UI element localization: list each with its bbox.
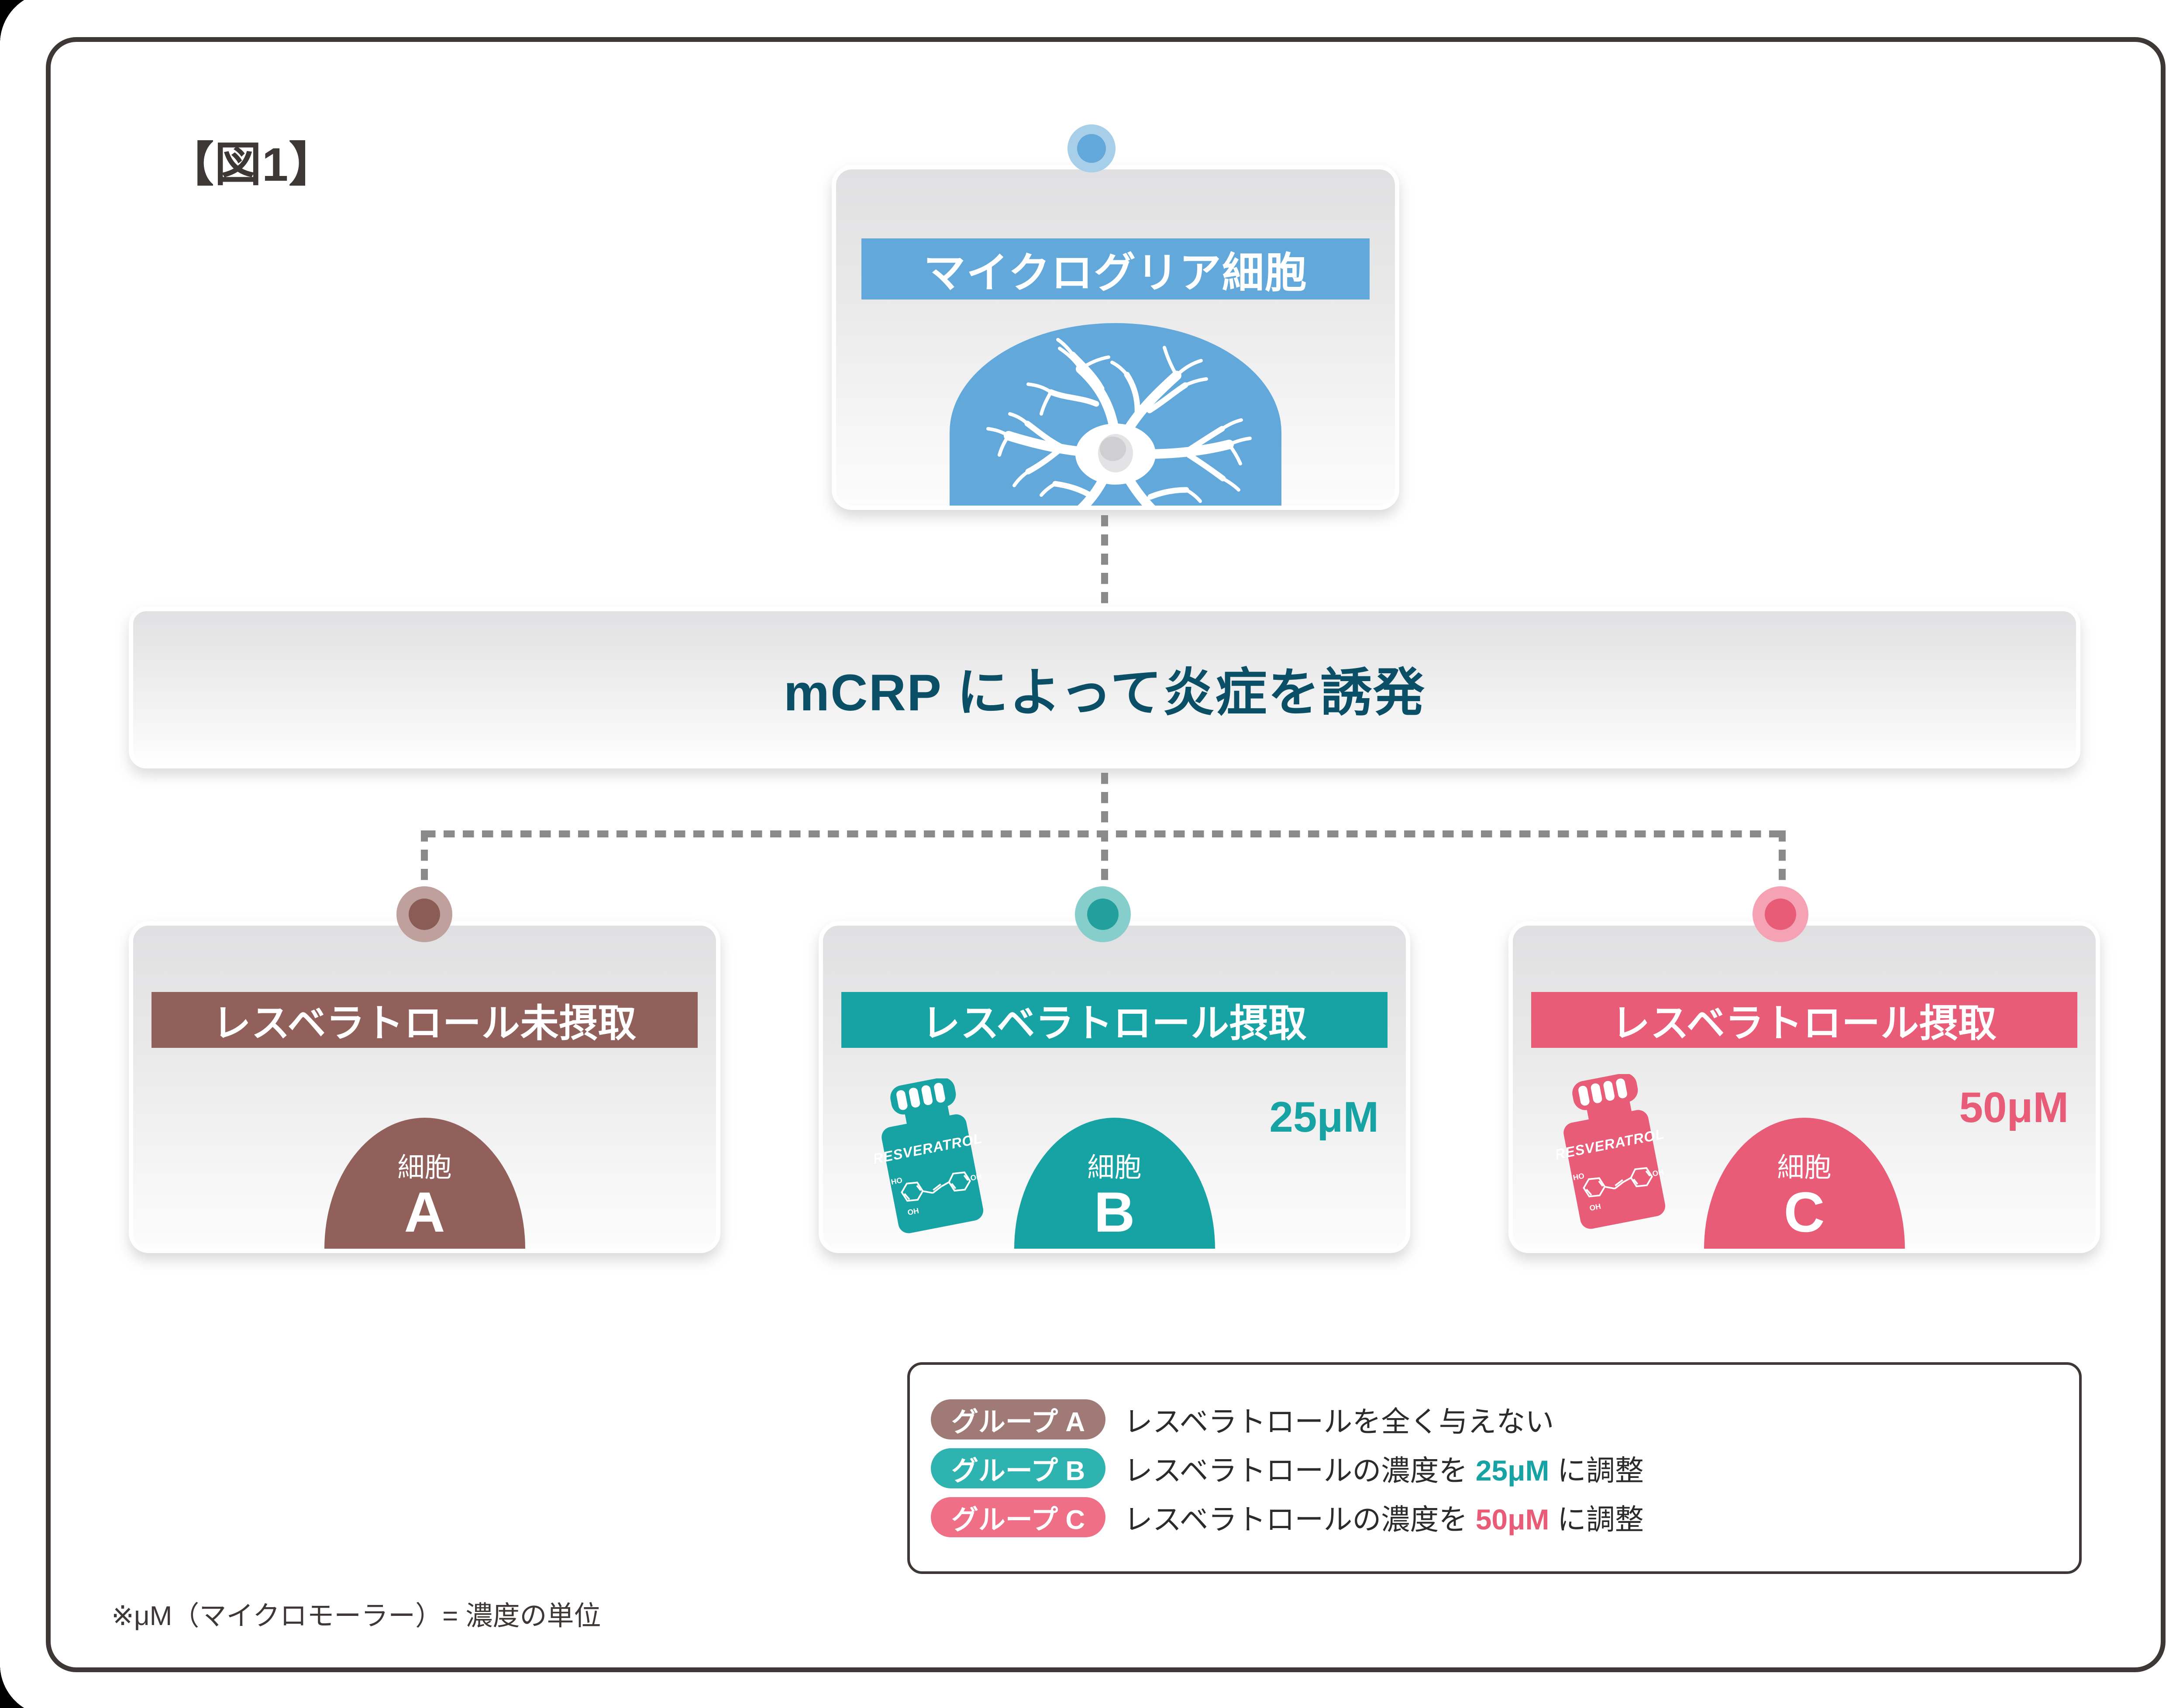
corner-bleed-top-right bbox=[2159, 0, 2183, 44]
cell-caption-a: 細胞 bbox=[397, 1154, 451, 1182]
legend-row: グループ A レスベラトロールを全く与えない bbox=[931, 1398, 2062, 1440]
cell-letter-b: B bbox=[1094, 1182, 1135, 1242]
legend-pill-group-c: グループ C bbox=[931, 1497, 1105, 1537]
figure-title: 【図1】 bbox=[167, 127, 336, 195]
group-b-label: レスベラトロール摂取 bbox=[841, 992, 1388, 1048]
cell-letter-c: C bbox=[1784, 1182, 1825, 1242]
legend-text-group-a: レスベラトロールを全く与えない bbox=[1124, 1398, 1554, 1440]
connector-banner-down bbox=[1101, 773, 1108, 834]
corner-bleed-bottom-left bbox=[0, 1664, 52, 1708]
svg-text:OH: OH bbox=[970, 1172, 982, 1183]
group-a-label: レスベラトロール未摂取 bbox=[152, 992, 698, 1048]
resveratrol-bottle-icon-c: RESVERATROL HO OH OH bbox=[1556, 1074, 1666, 1230]
cell-caption-b: 細胞 bbox=[1087, 1154, 1141, 1182]
pin-core bbox=[409, 899, 440, 930]
cell-dome-b: 細胞 B bbox=[1014, 1118, 1215, 1249]
concentration-b: 25μM bbox=[1269, 1092, 1379, 1142]
legend-pill-group-a: グループ A bbox=[931, 1399, 1105, 1439]
pin-core bbox=[1087, 899, 1119, 930]
legend-highlight: 25μM bbox=[1476, 1454, 1549, 1487]
corner-bleed-bottom-right bbox=[2159, 1664, 2183, 1708]
resveratrol-bottle-icon-b: RESVERATROL HO OH OH bbox=[875, 1078, 984, 1235]
inflammation-banner: mCRP によって炎症を誘発 bbox=[129, 607, 2080, 768]
legend-box: グループ A レスベラトロールを全く与えない グループ B レスベラトロールの濃… bbox=[907, 1362, 2082, 1574]
group-card-b: レスベラトロール摂取 RESVERATROL bbox=[819, 921, 1410, 1253]
legend-text-post: に調整 bbox=[1549, 1454, 1644, 1487]
legend-text-pre: レスベラトロールを全く与えない bbox=[1124, 1405, 1554, 1438]
pin-group-b bbox=[1075, 886, 1131, 942]
legend-text-group-c: レスベラトロールの濃度を 50μM に調整 bbox=[1124, 1496, 1644, 1538]
legend-row: グループ C レスベラトロールの濃度を 50μM に調整 bbox=[931, 1496, 2062, 1538]
cell-letter-a: A bbox=[404, 1182, 445, 1242]
concentration-c: 50μM bbox=[1959, 1083, 2069, 1132]
connector-micro-to-banner bbox=[1101, 515, 1108, 609]
footnote-unit-note: ※μM（マイクロモーラー）= 濃度の単位 bbox=[111, 1594, 601, 1633]
legend-row: グループ B レスベラトロールの濃度を 25μM に調整 bbox=[931, 1447, 2062, 1489]
microglia-cell-icon bbox=[950, 323, 1281, 510]
group-c-label: レスベラトロール摂取 bbox=[1531, 992, 2077, 1048]
microglia-card: マイクログリア細胞 bbox=[832, 165, 1399, 510]
pin-group-a bbox=[396, 886, 452, 942]
pin-core bbox=[1765, 899, 1796, 930]
corner-bleed-top-left bbox=[0, 0, 52, 44]
cell-dome-a: 細胞 A bbox=[324, 1118, 525, 1249]
legend-text-post: に調整 bbox=[1549, 1503, 1644, 1536]
legend-text-pre: レスベラトロールの濃度を bbox=[1124, 1503, 1476, 1536]
legend-pill-group-b: グループ B bbox=[931, 1448, 1105, 1488]
legend-highlight: 50μM bbox=[1476, 1503, 1549, 1536]
microglia-card-label: マイクログリア細胞 bbox=[861, 238, 1370, 300]
group-card-a: レスベラトロール未摂取 細胞 A bbox=[129, 921, 720, 1253]
svg-text:OH: OH bbox=[1652, 1167, 1664, 1178]
pin-microglia bbox=[1067, 124, 1116, 172]
inflammation-banner-text: mCRP によって炎症を誘発 bbox=[784, 651, 1425, 725]
cell-dome-c: 細胞 C bbox=[1704, 1118, 1905, 1249]
pin-group-c bbox=[1753, 886, 1808, 942]
cell-caption-c: 細胞 bbox=[1777, 1154, 1831, 1182]
legend-text-group-b: レスベラトロールの濃度を 25μM に調整 bbox=[1124, 1447, 1644, 1489]
legend-text-pre: レスベラトロールの濃度を bbox=[1124, 1454, 1476, 1487]
pin-core bbox=[1077, 134, 1106, 163]
group-card-c: レスベラトロール摂取 RESVERATROL bbox=[1508, 921, 2100, 1253]
